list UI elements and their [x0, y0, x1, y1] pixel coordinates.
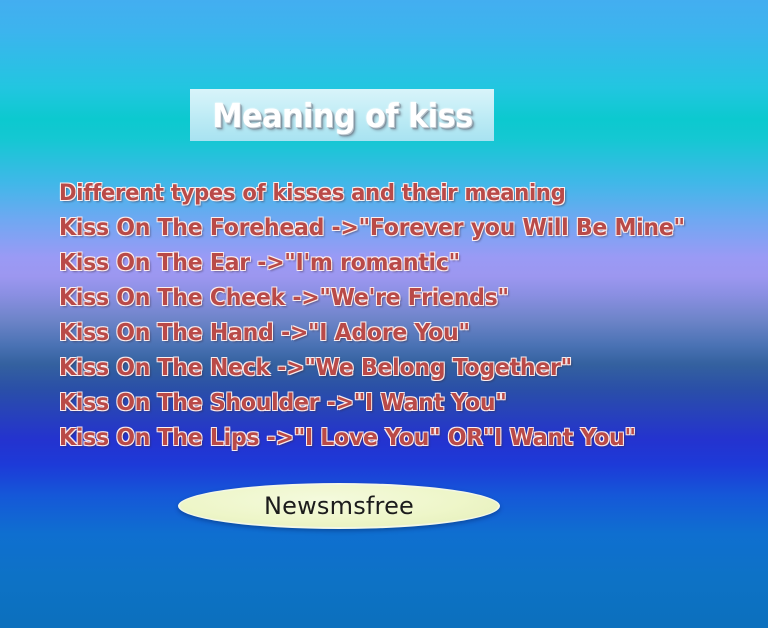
list-item-cheek: Kiss On The Cheek ->"We're Friends"	[59, 281, 731, 316]
list-item-shoulder: Kiss On The Shoulder ->"I Want You"	[59, 386, 731, 421]
poster-canvas: Meaning of kiss Different types of kisse…	[0, 0, 768, 628]
title-banner: Meaning of kiss	[190, 89, 494, 141]
page-title: Meaning of kiss	[212, 96, 472, 135]
list-item-hand: Kiss On The Hand ->"I Adore You"	[59, 316, 731, 351]
list-item-forehead: Kiss On The Forehead ->"Forever you Will…	[59, 211, 731, 246]
list-item-lips: Kiss On The Lips ->"I Love You" OR"I Wan…	[59, 421, 731, 456]
brand-badge: Newsmsfree	[178, 483, 500, 529]
list-heading: Different types of kisses and their mean…	[59, 176, 731, 211]
brand-label: Newsmsfree	[264, 492, 414, 520]
kiss-meaning-list: Different types of kisses and their mean…	[59, 176, 759, 456]
list-item-neck: Kiss On The Neck ->"We Belong Together"	[59, 351, 731, 386]
list-item-ear: Kiss On The Ear ->"I'm romantic"	[59, 246, 731, 281]
